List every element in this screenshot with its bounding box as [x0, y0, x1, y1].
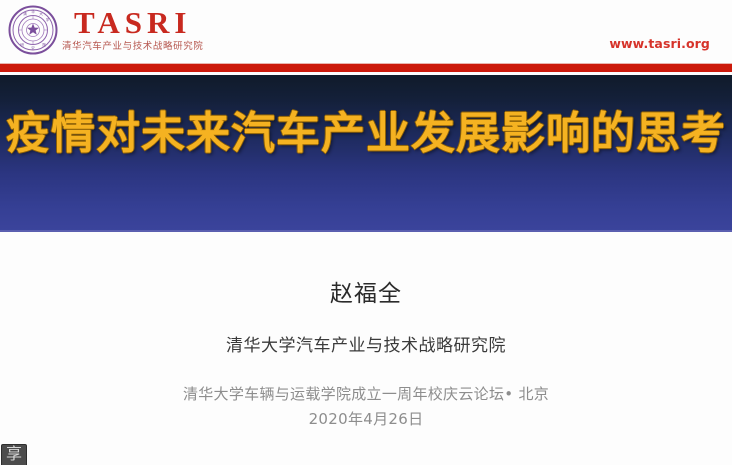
slide-header: 清 华 大 学 研 究 院: [0, 0, 732, 63]
speaker-name: 赵福全: [0, 279, 732, 309]
tasri-wordmark: TASRI: [74, 7, 191, 39]
event-date: 2020年4月26日: [0, 408, 732, 430]
svg-text:大: 大: [39, 11, 43, 16]
logo-text-block: TASRI 清华汽车产业与技术战略研究院: [62, 5, 203, 53]
tasri-logo: 清 华 大 学 研 究 院: [8, 5, 203, 55]
svg-text:研: 研: [20, 43, 24, 47]
presentation-slide: 清 华 大 学 研 究 院: [0, 0, 732, 465]
share-icon: 享: [2, 444, 26, 465]
svg-text:华: 华: [31, 9, 35, 14]
event-name: 清华大学车辆与运载学院成立一周年校庆云论坛• 北京: [0, 383, 732, 405]
svg-text:清: 清: [23, 11, 27, 16]
svg-text:学: 学: [46, 17, 50, 22]
speaker-affiliation: 清华大学汽车产业与技术战略研究院: [0, 334, 732, 358]
website-url[interactable]: www.tasri.org: [609, 36, 710, 51]
slide-title: 疫情对未来汽车产业发展影响的思考: [0, 105, 732, 163]
share-button[interactable]: 享: [1, 444, 27, 465]
svg-text:院: 院: [42, 42, 46, 47]
tsinghua-seal-icon: 清 华 大 学 研 究 院: [8, 5, 58, 55]
svg-text:究: 究: [31, 46, 35, 51]
tasri-subtitle: 清华汽车产业与技术战略研究院: [62, 40, 203, 53]
